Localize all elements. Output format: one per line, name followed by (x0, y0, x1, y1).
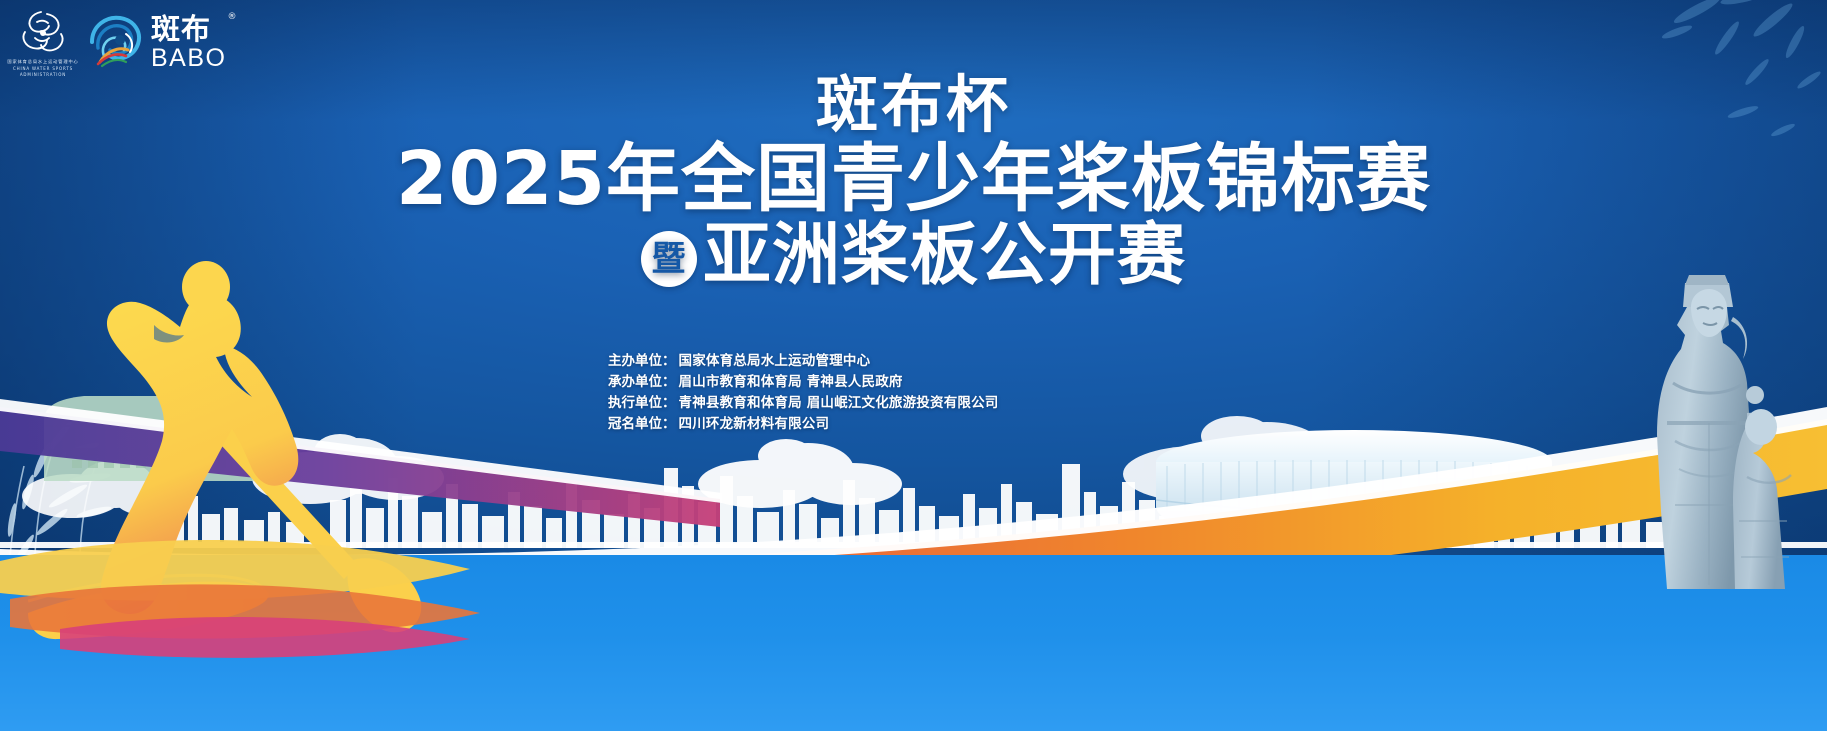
ji-badge: 暨 (641, 231, 697, 287)
event-poster: 国家体育总局水上运动管理中心 CHINA WATER SPORTS ADMINI… (0, 0, 1827, 731)
sponsor-row: 承办单位 ： 眉山市教育和体育局 青神县人民政府 (590, 372, 999, 393)
sponsor-label: 承办单位 (590, 372, 662, 393)
sponsor-label: 执行单位 (590, 393, 662, 414)
title-line-1: 斑布杯 (0, 74, 1827, 136)
sponsor-value: 眉山市教育和体育局 青神县人民政府 (679, 372, 903, 393)
title-line-2: 2025年全国青少年桨板锦标赛 (0, 142, 1827, 217)
sponsor-label: 主办单位 (590, 351, 662, 372)
sponsor-colon: ： (662, 393, 676, 414)
title-line-3-row: 暨 亚洲桨板公开赛 (0, 221, 1827, 290)
babo-brand-mark-icon (84, 12, 146, 74)
sponsor-list: 主办单位 ： 国家体育总局水上运动管理中心 承办单位 ： 眉山市教育和体育局 青… (590, 351, 999, 435)
sponsor-value: 国家体育总局水上运动管理中心 (679, 351, 871, 372)
cwsa-logo[interactable]: 国家体育总局水上运动管理中心 CHINA WATER SPORTS ADMINI… (12, 8, 74, 78)
header-logos: 国家体育总局水上运动管理中心 CHINA WATER SPORTS ADMINI… (12, 8, 226, 78)
babo-cn-text: 斑布 (151, 12, 211, 46)
sponsor-colon: ： (662, 351, 676, 372)
sponsor-value: 青神县教育和体育局 眉山岷江文化旅游投资有限公司 (679, 393, 999, 414)
sponsor-row: 执行单位 ： 青神县教育和体育局 眉山岷江文化旅游投资有限公司 (590, 393, 999, 414)
babo-logo[interactable]: 斑布 ® BABO (84, 12, 226, 74)
sponsor-label: 冠名单位 (590, 414, 662, 435)
cwsa-cn-text: 国家体育总局水上运动管理中心 (7, 59, 78, 65)
sponsor-colon: ： (662, 372, 676, 393)
wave-ribbon-icon (0, 521, 620, 671)
title-line-3: 亚洲桨板公开赛 (703, 221, 1186, 290)
sponsor-colon: ： (662, 414, 676, 435)
registered-mark: ® (227, 13, 237, 22)
poster-title: 斑布杯 2025年全国青少年桨板锦标赛 暨 亚洲桨板公开赛 (0, 74, 1827, 291)
babo-cn-name: 斑布 ® (151, 15, 226, 44)
china-water-sports-wave-mark-icon (17, 8, 69, 56)
sponsor-row: 冠名单位 ： 四川环龙新材料有限公司 (590, 414, 999, 435)
sponsor-row: 主办单位 ： 国家体育总局水上运动管理中心 (590, 351, 999, 372)
su-shi-stone-statue-icon (1615, 273, 1805, 603)
sponsor-value: 四川环龙新材料有限公司 (679, 414, 830, 435)
cwsa-en-line2: ADMINISTRATION (20, 72, 66, 78)
babo-en-name: BABO (151, 46, 226, 71)
